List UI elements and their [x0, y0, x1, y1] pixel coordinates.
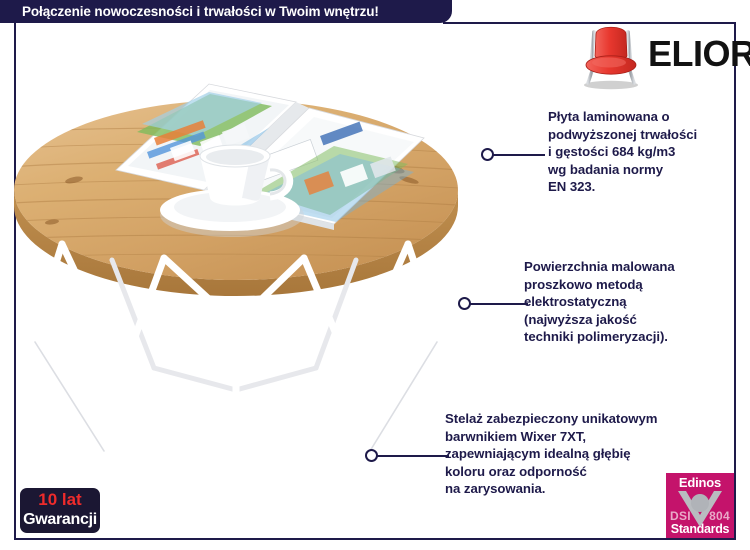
- callout-leader-powder-coating: [470, 303, 528, 305]
- edinos-dsi-code: DSI: [670, 509, 691, 523]
- callout-text-powder-coating: Powierzchnia malowana proszkowo metodą e…: [524, 258, 742, 346]
- warranty-word: Gwarancji: [20, 510, 100, 529]
- callout-text-laminate: Płyta laminowana o podwyższonej trwałośc…: [548, 108, 744, 196]
- warranty-badge: 10 lat Gwarancji: [20, 488, 100, 533]
- red-chair-icon: [578, 22, 644, 90]
- product-image: [4, 72, 474, 502]
- callout-leader-laminate: [493, 154, 545, 156]
- edinos-standards-label: Standards: [666, 522, 734, 536]
- edinos-name: Edinos: [666, 475, 734, 490]
- brand-logo: ELIOR: [568, 20, 736, 92]
- header-banner: Połączenie nowoczesności i trwałości w T…: [0, 0, 452, 23]
- edinos-standards-badge: Edinos DSI 804 Standards: [666, 473, 734, 538]
- frame-border-bottom: [14, 538, 736, 540]
- warranty-years: 10 lat: [20, 490, 100, 510]
- callout-leader-frame-dye: [377, 455, 449, 457]
- banner-headline: Połączenie nowoczesności i trwałości w T…: [22, 4, 379, 19]
- infographic-page: Połączenie nowoczesności i trwałości w T…: [0, 0, 750, 550]
- brand-name: ELIOR: [648, 32, 750, 76]
- edinos-number-code: 804: [709, 509, 730, 523]
